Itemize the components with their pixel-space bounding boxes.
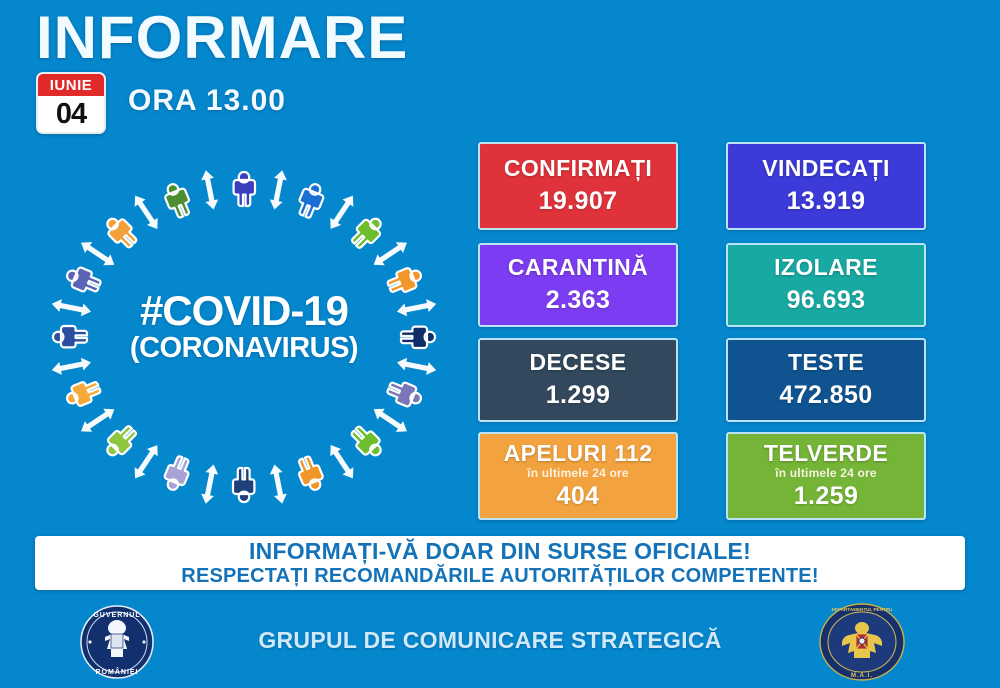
- distance-arrow-icon: [370, 237, 410, 270]
- person-figure: [161, 180, 194, 220]
- person-figure: [347, 422, 386, 461]
- stat-value-decese: 1.299: [546, 381, 611, 410]
- distance-arrow-icon: [268, 463, 289, 505]
- stat-subtitle-apeluri112: în ultimele 24 ore: [527, 466, 629, 480]
- departamentul-situatii-urgenta-logo: DEPARTAMENTUL PENTRU M.A.I.: [818, 602, 906, 682]
- calendar-icon: IUNIE 04: [36, 72, 106, 134]
- stat-value-izolare: 96.693: [787, 286, 866, 315]
- person-figure: [401, 327, 435, 348]
- stat-card-izolare: IZOLARE96.693: [726, 243, 926, 327]
- calendar-month-label: IUNIE: [38, 74, 104, 96]
- distance-arrow-icon: [199, 463, 220, 505]
- person-figure: [101, 422, 140, 461]
- stat-label-telverde: TELVERDE: [764, 441, 888, 465]
- person-figure: [294, 454, 327, 494]
- person-figure: [348, 213, 387, 252]
- stat-value-teste: 472.850: [779, 381, 872, 410]
- svg-text:DEPARTAMENTUL PENTRU: DEPARTAMENTUL PENTRU: [832, 607, 893, 612]
- stat-value-confirmati: 19.907: [539, 187, 618, 216]
- svg-text:M.A.I.: M.A.I.: [851, 673, 873, 679]
- distance-arrow-icon: [51, 297, 93, 318]
- guvernul-romaniei-logo: GUVERNUL ROMÂNIEI: [79, 604, 155, 680]
- distance-arrow-icon: [325, 441, 358, 481]
- person-figure: [63, 377, 103, 410]
- stat-card-carantina: CARANTINĂ2.363: [478, 243, 678, 327]
- person-figure: [233, 468, 254, 502]
- stat-label-carantina: CARANTINĂ: [508, 255, 648, 279]
- person-figure: [161, 454, 194, 494]
- person-figure: [385, 378, 425, 411]
- person-figure: [53, 326, 87, 347]
- stat-card-decese: DECESE1.299: [478, 338, 678, 422]
- people-circle-svg: [34, 162, 454, 512]
- distance-arrow-icon: [396, 297, 438, 318]
- stat-subtitle-telverde: în ultimele 24 ore: [775, 466, 877, 480]
- distance-arrow-icon: [199, 169, 220, 211]
- banner-line-1: INFORMAȚI-VĂ DOAR DIN SURSE OFICIALE!: [249, 538, 751, 564]
- distance-arrow-icon: [396, 356, 438, 377]
- official-sources-banner: INFORMAȚI-VĂ DOAR DIN SURSE OFICIALE! RE…: [35, 536, 965, 590]
- stat-card-teste: TESTE472.850: [726, 338, 926, 422]
- stat-label-confirmati: CONFIRMAȚI: [504, 156, 652, 180]
- person-figure: [385, 264, 425, 297]
- svg-text:GUVERNUL: GUVERNUL: [93, 612, 140, 619]
- distance-arrow-icon: [325, 192, 358, 232]
- stat-label-teste: TESTE: [788, 350, 864, 374]
- stat-label-izolare: IZOLARE: [774, 255, 878, 279]
- page-title: INFORMARE: [36, 6, 408, 69]
- distance-arrow-icon: [130, 441, 163, 481]
- distance-arrow-icon: [51, 356, 93, 377]
- stat-label-decese: DECESE: [530, 350, 627, 374]
- svg-text:ROMÂNIEI: ROMÂNIEI: [96, 667, 139, 676]
- covid-circle-graphic: #COVID-19 (CORONAVIRUS): [34, 162, 454, 512]
- calendar-day-label: 04: [38, 96, 104, 132]
- infographic-canvas: INFORMARE IUNIE 04 ORA 13.00 #COVID-19 (…: [0, 0, 1000, 688]
- stat-value-carantina: 2.363: [546, 286, 611, 315]
- stat-card-vindecati: VINDECAȚI13.919: [726, 142, 926, 230]
- distance-arrow-icon: [268, 169, 289, 211]
- stat-card-confirmati: CONFIRMAȚI19.907: [478, 142, 678, 230]
- stat-card-telverde: TELVERDEîn ultimele 24 ore1.259: [726, 432, 926, 520]
- distance-arrow-icon: [77, 237, 117, 270]
- stat-label-vindecati: VINDECAȚI: [762, 156, 890, 180]
- stat-value-telverde: 1.259: [794, 482, 859, 511]
- distance-arrow-icon: [130, 192, 163, 232]
- banner-line-2: RESPECTAȚI RECOMANDĂRILE AUTORITĂȚILOR C…: [181, 565, 818, 588]
- person-figure: [64, 264, 104, 297]
- distance-arrow-icon: [370, 404, 410, 437]
- stat-value-vindecati: 13.919: [787, 187, 866, 216]
- stat-card-apeluri112: APELURI 112în ultimele 24 ore404: [478, 432, 678, 520]
- report-hour: ORA 13.00: [128, 84, 286, 118]
- person-figure: [294, 181, 327, 221]
- stat-label-apeluri112: APELURI 112: [504, 441, 653, 465]
- stat-value-apeluri112: 404: [557, 482, 600, 511]
- distance-arrow-icon: [77, 404, 117, 437]
- footer-organization: GRUPUL DE COMUNICARE STRATEGICĂ: [180, 627, 800, 654]
- person-figure: [234, 172, 255, 206]
- person-figure: [102, 213, 141, 252]
